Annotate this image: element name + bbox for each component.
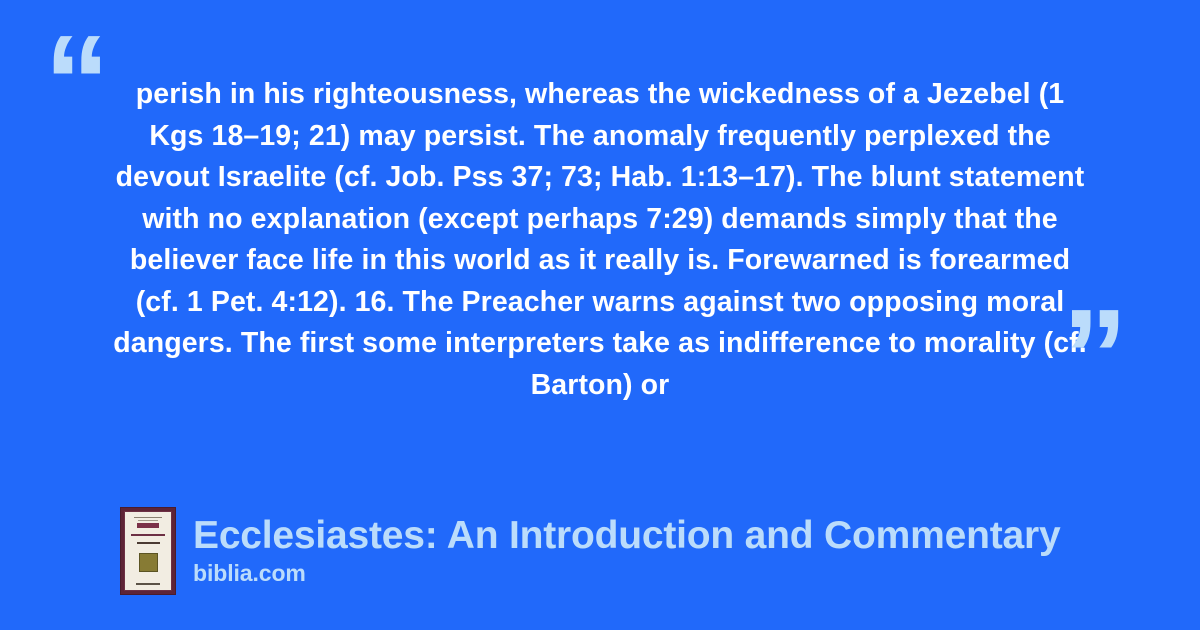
quote-card: “ perish in his righteousness, whereas t… — [0, 0, 1200, 630]
quote-text: perish in his righteousness, whereas the… — [110, 74, 1090, 406]
cover-emblem-icon — [139, 553, 158, 572]
open-quote-icon: “ — [44, 16, 107, 148]
cover-series-line — [134, 517, 162, 518]
book-title: Ecclesiastes: An Introduction and Commen… — [193, 516, 1060, 557]
book-cover-face — [124, 511, 172, 591]
footer-text-block: Ecclesiastes: An Introduction and Commen… — [193, 516, 1060, 587]
close-quote-icon: ” — [1062, 290, 1125, 422]
site-name: biblia.com — [193, 560, 1060, 586]
cover-rule — [131, 534, 166, 536]
cover-title-line — [137, 542, 160, 545]
cover-author-line — [136, 583, 161, 585]
cover-series-line — [138, 520, 157, 521]
book-cover-icon — [120, 507, 176, 595]
footer-attribution: Ecclesiastes: An Introduction and Commen… — [120, 507, 1060, 595]
cover-band — [137, 523, 158, 528]
